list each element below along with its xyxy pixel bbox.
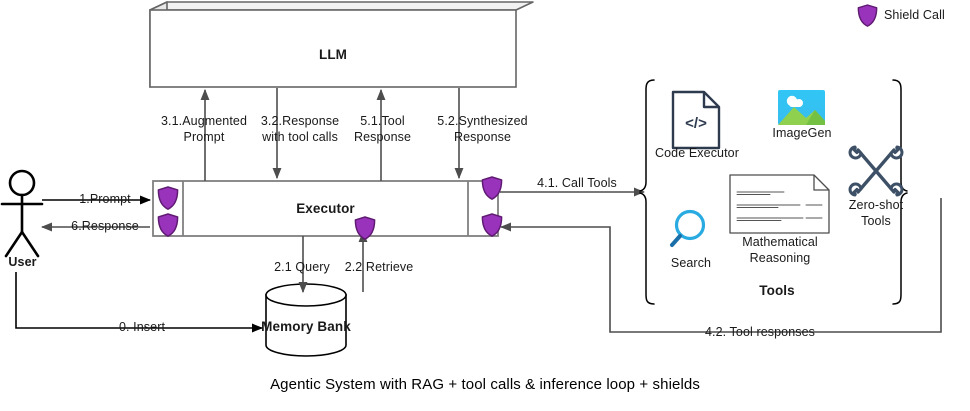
tool-label-mathematical-reasoning: Mathematical Reasoning: [730, 235, 830, 266]
edge-label-retrieve: 2.2 Retrieve: [329, 260, 429, 276]
edge-label-call-tools: 4.1. Call Tools: [522, 176, 632, 192]
diagram-canvas: </>: [0, 0, 970, 411]
user-stick-figure: [2, 171, 42, 256]
tool-label-imagegen: ImageGen: [756, 126, 848, 142]
legend-shield-label: Shield Call: [884, 8, 970, 24]
diagram-caption: Agentic System with RAG + tool calls & i…: [0, 376, 970, 395]
tool-label-code-executor: Code Executor: [642, 146, 752, 162]
magnifier-icon: [672, 212, 704, 246]
llm-label: LLM: [150, 47, 516, 64]
executor-label: Executor: [183, 201, 468, 218]
user-label: User: [0, 255, 45, 271]
edge-label-tool-response: 5.1.Tool Response: [340, 114, 425, 145]
memory-bank-label: Memory Bank: [256, 319, 356, 336]
crossed-wrenches-icon: [850, 147, 902, 195]
math-document-icon: [730, 175, 829, 233]
tools-group-label: Tools: [722, 283, 832, 300]
shield-icon-legend: [858, 5, 876, 26]
image-icon: [778, 90, 825, 125]
edge-label-synthesized-response: 5.2.Synthesized Response: [420, 114, 545, 145]
edge-label-response: 6.Response: [55, 219, 155, 235]
code-document-icon: </>: [673, 92, 719, 148]
tool-label-search: Search: [655, 256, 727, 272]
edge-label-tool-responses: 4.2. Tool responses: [670, 325, 850, 341]
edge-label-insert: 0. Insert: [92, 320, 192, 336]
svg-text:</>: </>: [685, 115, 707, 132]
llm-box: [150, 2, 533, 87]
tool-label-zero-shot-tools: Zero-shot Tools: [836, 198, 916, 229]
edge-label-prompt: 1.Prompt: [60, 192, 150, 208]
